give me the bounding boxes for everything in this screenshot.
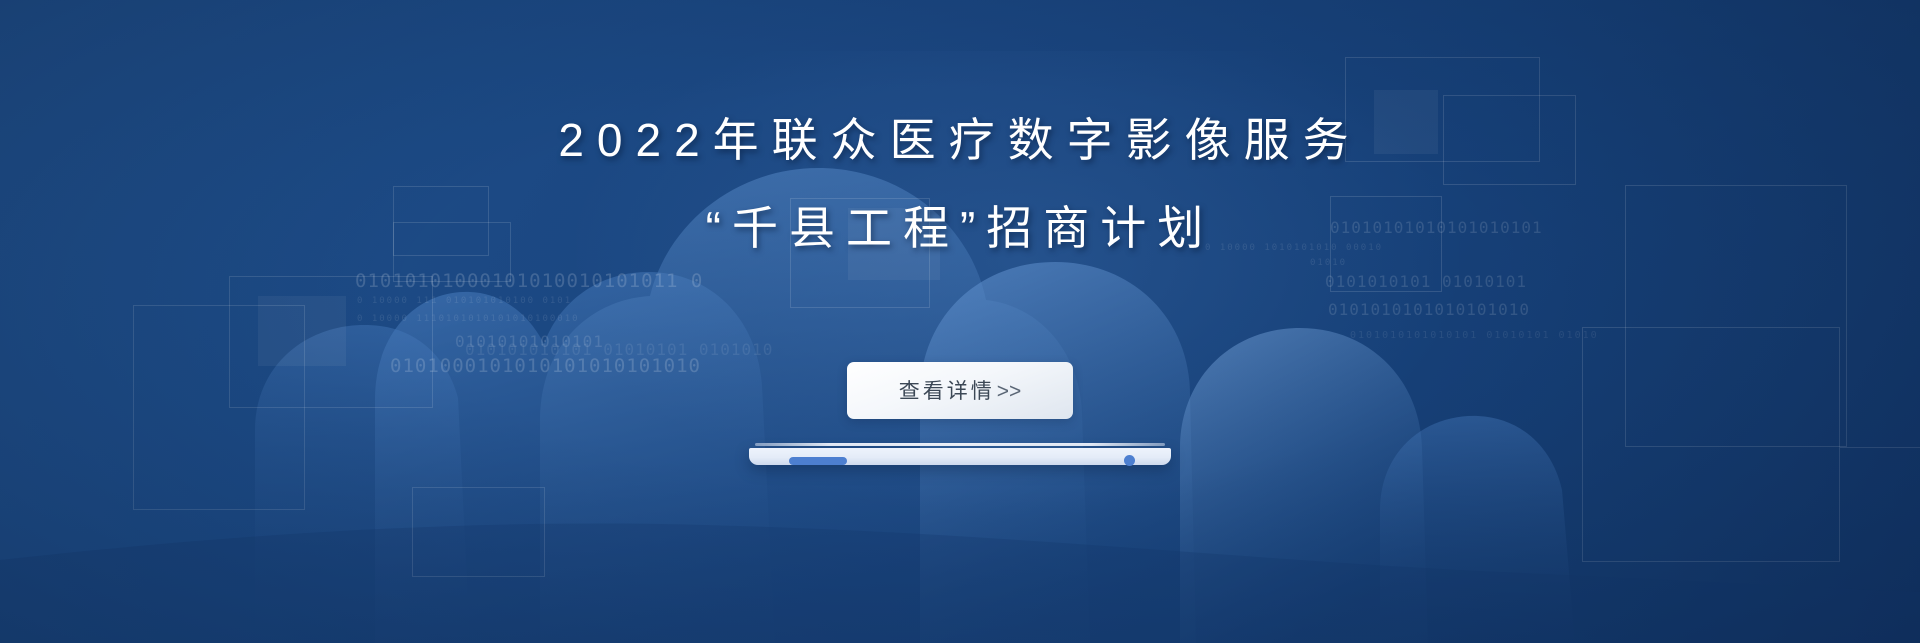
title-line-2: “千县工程”招商计划 [0, 184, 1920, 272]
rect-right-edge-line [1840, 447, 1920, 448]
laptop-base-graphic [749, 443, 1171, 469]
binary-text-12: 0101010101010101 01010101 01010 [1350, 330, 1599, 341]
view-details-button[interactable]: 查看详情>> [847, 362, 1073, 419]
banner-title: 2022年联众医疗数字影像服务 “千县工程”招商计划 [0, 96, 1920, 272]
double-chevron-right-icon: >> [997, 380, 1022, 403]
binary-text-10: 0101010101 01010101 [1325, 272, 1527, 291]
cta-container: 查看详情>> [0, 362, 1920, 419]
binary-text-2: 0 10000 111 010101010100 0101 [357, 296, 572, 306]
binary-text-1: 01010101000101010010101011 0 [355, 270, 703, 292]
title-line-1: 2022年联众医疗数字影像服务 [0, 96, 1920, 184]
promo-banner: 01010101000101010010101011 0 0 10000 111… [0, 0, 1920, 643]
binary-text-11: 0101010101010101010 [1328, 300, 1530, 319]
laptop-body [749, 448, 1171, 465]
binary-text-3: 0 10000 1110101010101010100010 [357, 314, 580, 324]
laptop-lid-edge [755, 443, 1165, 446]
rect-bottom-left-outline [412, 487, 545, 577]
view-details-label: 查看详情 [899, 380, 995, 403]
laptop-indicator-dot [1124, 455, 1135, 466]
laptop-indicator-pill [789, 457, 847, 465]
